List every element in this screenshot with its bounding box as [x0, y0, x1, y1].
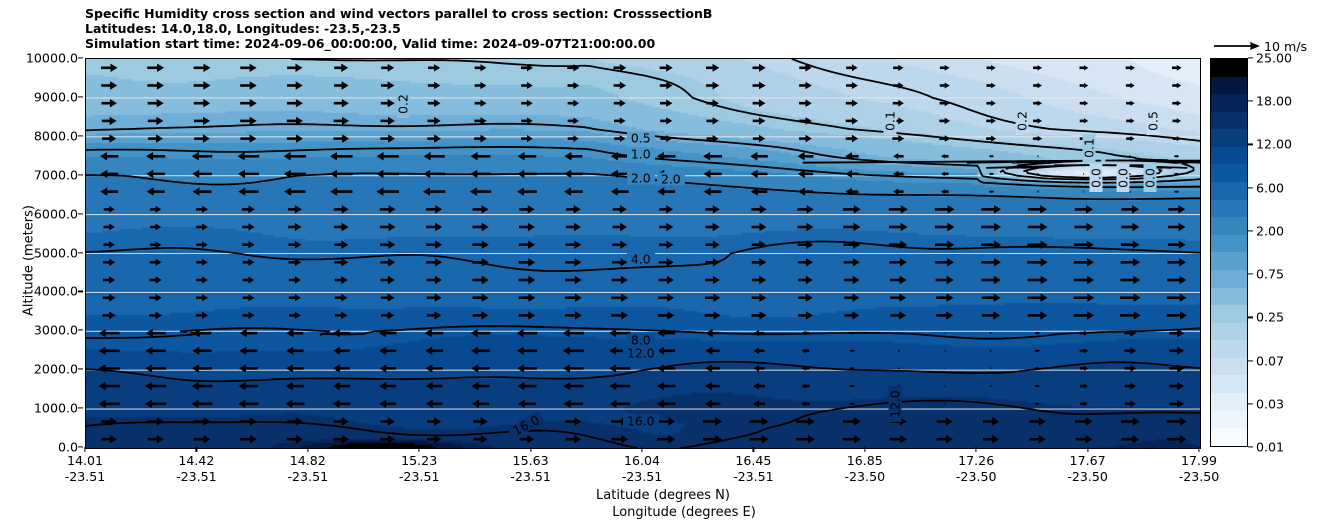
contour-label: 16.0 [625, 413, 657, 428]
colorbar-segment [1211, 305, 1247, 323]
x-tick-longitude: -23.51 [176, 469, 217, 485]
contour-label: 0.2 [1014, 109, 1029, 133]
colorbar-segment [1211, 217, 1247, 235]
x-tick-latitude: 14.82 [287, 453, 328, 469]
y-tick-mark [78, 369, 83, 370]
x-tick-latitude: 17.99 [1179, 453, 1220, 469]
x-axis-labels: Latitude (degrees N) Longitude (degrees … [0, 487, 1326, 521]
x-tick-label: 16.04-23.51 [622, 453, 663, 485]
x-tick-latitude: 17.26 [956, 453, 997, 469]
colorbar-segment [1211, 200, 1247, 218]
y-tick-label: 6000.0 [0, 206, 78, 221]
colorbar-segment [1211, 164, 1247, 182]
x-tick-latitude: 16.45 [733, 453, 774, 469]
colorbar-segment [1211, 129, 1247, 147]
y-tick-label: 3000.0 [0, 323, 78, 338]
x-tick-label: 14.01-23.51 [65, 453, 106, 485]
colorbar-tick-label: 12.00 [1256, 137, 1292, 152]
colorbar-tick-label: 0.75 [1256, 267, 1284, 282]
y-tick-mark [78, 446, 83, 447]
x-tick-mark [1087, 447, 1088, 452]
contour-label: 0.2 [396, 92, 411, 116]
colorbar-segment [1211, 358, 1247, 376]
colorbar-segment [1211, 59, 1247, 77]
colorbar-segment [1211, 112, 1247, 130]
colorbar-tick-label: 25.00 [1256, 51, 1292, 66]
x-tick-label: 16.45-23.51 [733, 453, 774, 485]
y-tick-label: 10000.0 [0, 51, 78, 66]
x-axis-label-latitude: Latitude (degrees N) [0, 487, 1326, 504]
x-tick-mark [419, 447, 420, 452]
colorbar-tick-mark [1248, 187, 1253, 188]
y-tick-mark [78, 135, 83, 136]
contour-label: 0.1 [883, 109, 898, 133]
y-tick-mark [78, 330, 83, 331]
x-tick-label: 17.26-23.50 [956, 453, 997, 485]
x-tick-label: 16.85-23.50 [844, 453, 885, 485]
y-tick-label: 5000.0 [0, 245, 78, 260]
x-tick-label: 14.82-23.51 [287, 453, 328, 485]
contour-label: 0.0 [1142, 166, 1157, 190]
x-tick-mark [530, 447, 531, 452]
x-tick-label: 17.67-23.50 [1067, 453, 1108, 485]
x-tick-label: 14.42-23.51 [176, 453, 217, 485]
colorbar-tick-mark [1248, 403, 1253, 404]
colorbar-tick-label: 0.07 [1256, 353, 1284, 368]
y-tick-label: 8000.0 [0, 128, 78, 143]
contour-label: 12.0 [887, 389, 902, 421]
colorbar-segment [1211, 375, 1247, 393]
colorbar-tick-mark [1248, 101, 1253, 102]
colorbar-tick-label: 0.03 [1256, 396, 1284, 411]
x-tick-label: 15.63-23.51 [510, 453, 551, 485]
colorbar-tick-label: 2.00 [1256, 223, 1284, 238]
y-tick-label: 2000.0 [0, 362, 78, 377]
contour-label: 2.0 [659, 171, 683, 186]
x-tick-label: 17.99-23.50 [1179, 453, 1220, 485]
y-tick-mark [78, 57, 83, 58]
x-tick-mark [753, 447, 754, 452]
x-tick-mark [976, 447, 977, 452]
x-tick-latitude: 16.04 [622, 453, 663, 469]
colorbar [1210, 58, 1248, 447]
title-line-1: Specific Humidity cross section and wind… [85, 6, 1205, 21]
colorbar-segment [1211, 323, 1247, 341]
contour-label: 2.0 [629, 170, 653, 185]
x-tick-longitude: -23.50 [844, 469, 885, 485]
y-axis-label: Altitude (meters) [22, 136, 37, 386]
x-tick-latitude: 14.42 [176, 453, 217, 469]
y-tick-label: 4000.0 [0, 284, 78, 299]
x-tick-mark [196, 447, 197, 452]
x-tick-longitude: -23.51 [65, 469, 106, 485]
x-tick-longitude: -23.51 [622, 469, 663, 485]
y-tick-mark [78, 96, 83, 97]
colorbar-tick-mark [1248, 446, 1253, 447]
colorbar-segment [1211, 77, 1247, 95]
contour-label: 0.5 [629, 130, 653, 145]
x-tick-latitude: 14.01 [65, 453, 106, 469]
x-tick-longitude: -23.50 [956, 469, 997, 485]
x-axis-label-longitude: Longitude (degrees E) [0, 504, 1326, 521]
colorbar-tick-label: 0.01 [1256, 440, 1284, 455]
colorbar-segment [1211, 411, 1247, 429]
colorbar-segment [1211, 393, 1247, 411]
x-tick-longitude: -23.51 [287, 469, 328, 485]
x-tick-label: 15.23-23.51 [399, 453, 440, 485]
colorbar-segment [1211, 428, 1247, 446]
x-tick-mark [864, 447, 865, 452]
contour-label: 1.0 [629, 146, 653, 161]
contour-label: 0.5 [1146, 109, 1161, 133]
y-tick-mark [78, 213, 83, 214]
y-tick-mark [78, 291, 83, 292]
cross-section-plot: 0.20.51.02.02.04.08.012.016.016.012.00.1… [85, 58, 1201, 449]
colorbar-tick-label: 6.00 [1256, 180, 1284, 195]
y-tick-mark [78, 252, 83, 253]
colorbar-segment [1211, 252, 1247, 270]
figure-title: Specific Humidity cross section and wind… [85, 6, 1205, 52]
colorbar-tick-label: 18.00 [1256, 94, 1292, 109]
colorbar-tick-mark [1248, 230, 1253, 231]
x-tick-latitude: 15.63 [510, 453, 551, 469]
x-tick-longitude: -23.50 [1067, 469, 1108, 485]
contour-label: 0.0 [1089, 166, 1104, 190]
y-tick-label: 1000.0 [0, 401, 78, 416]
colorbar-segment [1211, 94, 1247, 112]
contour-label: 0.0 [1116, 166, 1131, 190]
colorbar-segment [1211, 340, 1247, 358]
x-tick-latitude: 15.23 [399, 453, 440, 469]
colorbar-segment [1211, 235, 1247, 253]
x-tick-mark [307, 447, 308, 452]
y-tick-label: 9000.0 [0, 89, 78, 104]
colorbar-tick-mark [1248, 57, 1253, 58]
x-tick-longitude: -23.51 [399, 469, 440, 485]
x-tick-mark [1198, 447, 1199, 452]
y-tick-label: 7000.0 [0, 167, 78, 182]
x-tick-longitude: -23.51 [510, 469, 551, 485]
y-tick-mark [78, 408, 83, 409]
figure-root: Specific Humidity cross section and wind… [0, 0, 1326, 526]
x-tick-mark [641, 447, 642, 452]
x-tick-mark [84, 447, 85, 452]
x-tick-longitude: -23.51 [733, 469, 774, 485]
arrow-right-icon [1212, 38, 1262, 54]
colorbar-tick-mark [1248, 317, 1253, 318]
x-tick-latitude: 16.85 [844, 453, 885, 469]
colorbar-segment [1211, 147, 1247, 165]
colorbar-tick-label: 0.25 [1256, 310, 1284, 325]
contour-label: 12.0 [625, 346, 657, 361]
colorbar-segment [1211, 270, 1247, 288]
colorbar-tick-mark [1248, 360, 1253, 361]
colorbar-segment [1211, 288, 1247, 306]
colorbar-tick-mark [1248, 274, 1253, 275]
title-line-2: Latitudes: 14.0,18.0, Longitudes: -23.5,… [85, 21, 1205, 36]
x-tick-latitude: 17.67 [1067, 453, 1108, 469]
colorbar-tick-mark [1248, 144, 1253, 145]
contour-label: 0.1 [1081, 137, 1096, 161]
title-line-3: Simulation start time: 2024-09-06_00:00:… [85, 36, 1205, 51]
x-tick-longitude: -23.50 [1179, 469, 1220, 485]
colorbar-segment [1211, 182, 1247, 200]
contour-label: 4.0 [629, 251, 653, 266]
y-tick-mark [78, 174, 83, 175]
